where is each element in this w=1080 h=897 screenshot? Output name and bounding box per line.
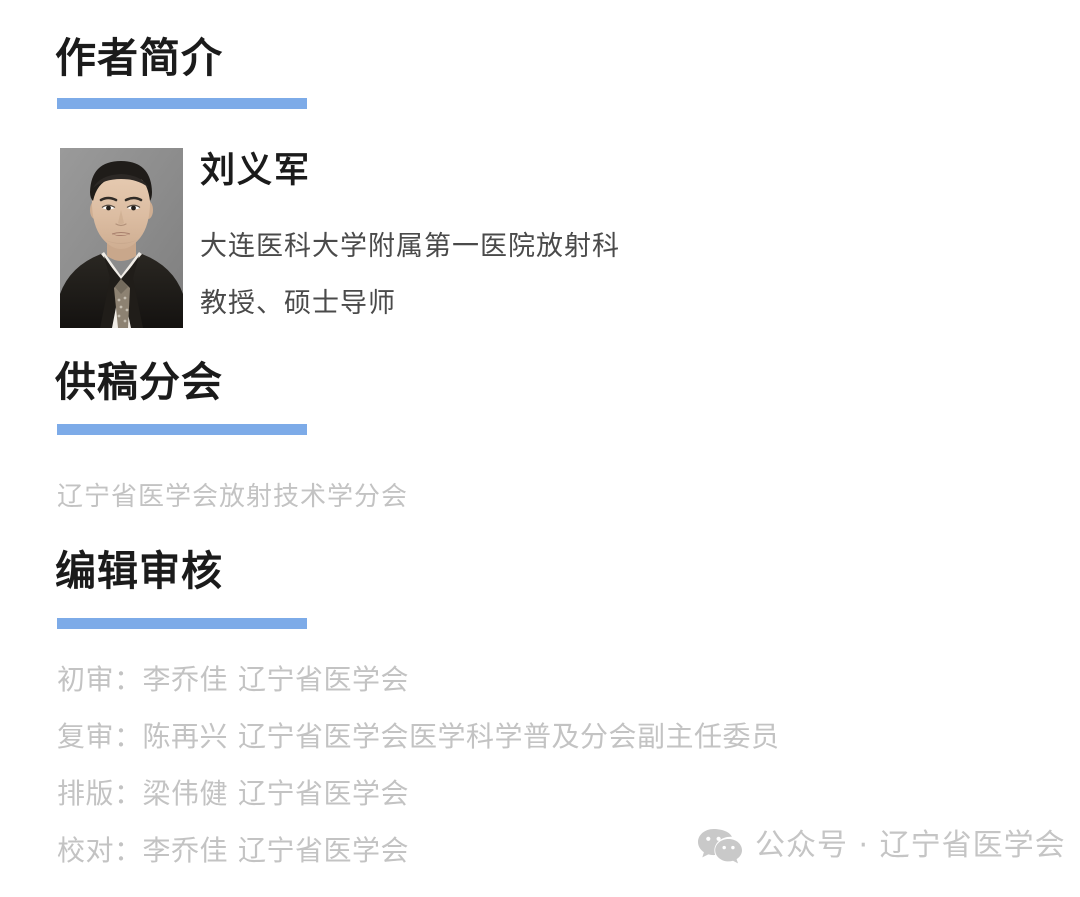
credit-row-proofreading: 校对：李乔佳辽宁省医学会	[57, 837, 409, 865]
wechat-account-label: 公众号 · 辽宁省医学会	[755, 831, 1066, 861]
section-heading-contributing-branch: 供稿分会	[55, 362, 223, 403]
credit-person: 李乔佳	[143, 834, 229, 867]
author-title: 教授、硕士导师	[200, 290, 940, 317]
author-details: 刘义军 大连医科大学附属第一医院放射科 教授、硕士导师	[200, 148, 940, 317]
section-heading-author: 作者简介	[55, 38, 223, 79]
author-name: 刘义军	[200, 154, 940, 189]
contributing-branch-body: 辽宁省医学会放射技术学分会	[57, 484, 408, 510]
article-footer-page: 作者简介	[0, 0, 1080, 897]
credit-role: 校对：	[57, 834, 143, 867]
credit-person: 李乔佳	[143, 663, 229, 696]
heading-rule-author	[57, 98, 307, 109]
wechat-icon	[697, 826, 743, 866]
section-heading-editorial: 编辑审核	[55, 551, 223, 592]
credit-row-first-review: 初审：李乔佳辽宁省医学会	[57, 666, 409, 694]
credit-org: 辽宁省医学会	[238, 777, 409, 810]
credit-role: 排版：	[57, 777, 143, 810]
heading-rule-contributing-branch	[57, 424, 307, 435]
credit-role: 初审：	[57, 663, 143, 696]
author-card: 刘义军 大连医科大学附属第一医院放射科 教授、硕士导师	[60, 148, 960, 333]
credit-row-layout: 排版：梁伟健辽宁省医学会	[57, 780, 409, 808]
credit-role: 复审：	[57, 720, 143, 753]
wechat-official-account-badge[interactable]: 公众号 · 辽宁省医学会	[697, 826, 1066, 866]
credit-org: 辽宁省医学会	[238, 663, 409, 696]
author-portrait-photo	[60, 148, 183, 328]
credit-org: 辽宁省医学会医学科学普及分会副主任委员	[238, 720, 780, 753]
credit-person: 陈再兴	[143, 720, 229, 753]
author-affiliation: 大连医科大学附属第一医院放射科	[200, 233, 940, 260]
credit-org: 辽宁省医学会	[238, 834, 409, 867]
credit-row-second-review: 复审：陈再兴辽宁省医学会医学科学普及分会副主任委员	[57, 723, 780, 751]
heading-rule-editorial	[57, 618, 307, 629]
credit-person: 梁伟健	[143, 777, 229, 810]
